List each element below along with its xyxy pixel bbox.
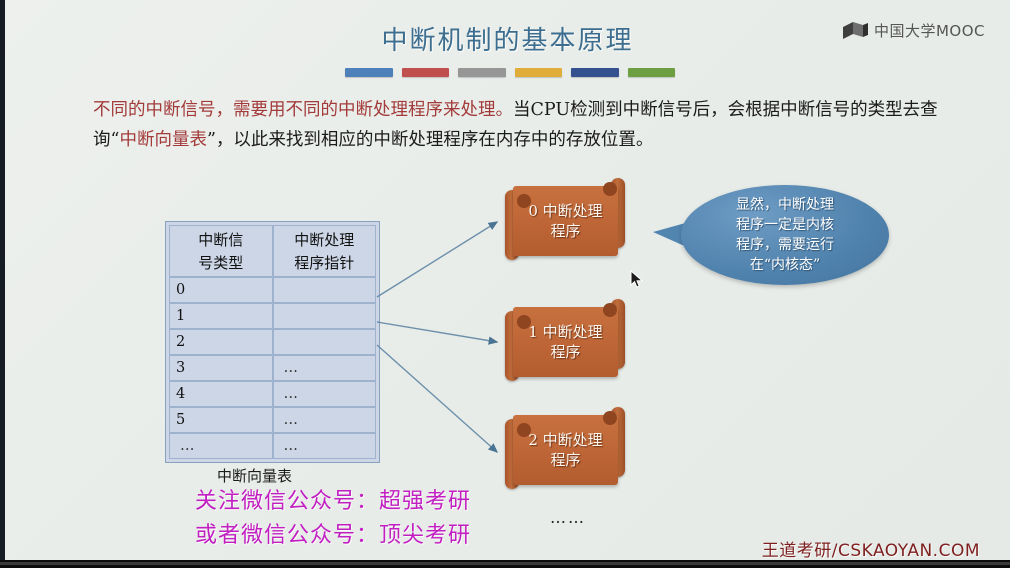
callout-bubble: 显然，中断处理 程序一定是内核 程序，需要运行 在“内核态” xyxy=(681,185,889,285)
handler-scroll-0: 0 中断处理 程序 xyxy=(499,180,631,262)
paragraph-red-term: 中断向量表 xyxy=(119,130,207,150)
slide-canvas: 中断机制的基本原理 中国大学MOOC 不同的中断信号，需要用不同的中断处理程序来… xyxy=(5,0,1010,560)
brand-logo: 中国大学MOOC xyxy=(843,20,985,41)
scroll-knob-right xyxy=(603,303,617,317)
table-row: 1 xyxy=(169,303,376,329)
watermark-brand: 王道考研/CSKAOYAN.COM xyxy=(762,536,980,561)
brand-logo-text: 中国大学MOOC xyxy=(874,20,985,41)
table-cell-type: 3 xyxy=(169,355,273,381)
table-row: 0 xyxy=(169,277,376,303)
table-row: … … xyxy=(169,433,376,459)
table-cell-type: 5 xyxy=(169,407,273,433)
table-cell-type: … xyxy=(169,433,273,459)
table-cell-type: 2 xyxy=(169,329,273,355)
paragraph-dark-3: ”，以此来找到相应的中断处理程序在内存中的存放位置。 xyxy=(207,130,653,150)
video-slide-frame: 中断机制的基本原理 中国大学MOOC 不同的中断信号，需要用不同的中断处理程序来… xyxy=(0,0,1010,568)
accent-bar-2 xyxy=(402,68,450,77)
watermark-line-1: 关注微信公众号：超强考研 xyxy=(195,483,471,515)
callout-text: 显然，中断处理 程序一定是内核 程序，需要运行 在“内核态” xyxy=(736,195,834,275)
accent-bar-4 xyxy=(515,68,563,77)
table-cell-type: 0 xyxy=(169,277,273,303)
interrupt-vector-table: 中断信 号类型 中断处理 程序指针 0 1 2 3 … 4 … xyxy=(165,221,380,463)
player-progress-track[interactable] xyxy=(0,562,1010,565)
handlers-more-ellipsis: …… xyxy=(550,508,586,527)
mouse-cursor-icon xyxy=(630,270,644,290)
paragraph-red-lead: 不同的中断信号，需要用不同的中断处理程序来处理。 xyxy=(93,100,513,120)
table-header-cell-type: 中断信 号类型 xyxy=(169,225,273,277)
accent-bar-6 xyxy=(628,68,676,77)
title-accent-bars xyxy=(345,68,675,77)
accent-bar-3 xyxy=(458,68,506,77)
handler-scroll-1: 1 中断处理 程序 xyxy=(499,301,631,383)
arrow-row1-to-handler1 xyxy=(377,322,497,342)
handler-label: 2 中断处理 程序 xyxy=(528,430,602,470)
table-cell-type: 1 xyxy=(169,303,273,329)
handler-label: 0 中断处理 程序 xyxy=(528,201,602,241)
table-cell-pointer xyxy=(273,329,377,355)
handler-label: 1 中断处理 程序 xyxy=(528,322,602,362)
paragraph-dark-1: 当CPU检测到中断信号后，会根据中断信号 xyxy=(513,100,850,120)
scroll-knob-right xyxy=(603,411,617,425)
mooc-book-icon xyxy=(843,21,869,41)
arrow-row0-to-handler0 xyxy=(377,222,497,297)
player-left-edge xyxy=(0,0,5,568)
table-cell-pointer xyxy=(273,303,377,329)
table-cell-pointer: … xyxy=(273,407,377,433)
accent-bar-1 xyxy=(345,68,393,77)
player-bottom-bar[interactable] xyxy=(0,560,1010,568)
table-row: 5 … xyxy=(169,407,376,433)
table-cell-type: 4 xyxy=(169,381,273,407)
accent-bar-5 xyxy=(571,68,619,77)
table-row: 4 … xyxy=(169,381,376,407)
table-header-cell-pointer: 中断处理 程序指针 xyxy=(273,225,377,277)
table-header-row: 中断信 号类型 中断处理 程序指针 xyxy=(169,225,376,277)
scroll-knob-right xyxy=(603,182,617,196)
table-row: 3 … xyxy=(169,355,376,381)
arrow-row2-to-handler2 xyxy=(377,345,497,452)
table-cell-pointer xyxy=(273,277,377,303)
table-cell-pointer: … xyxy=(273,381,377,407)
handler-scroll-2: 2 中断处理 程序 xyxy=(499,409,631,491)
watermark-line-2: 或者微信公众号：顶尖考研 xyxy=(195,517,471,549)
table-cell-pointer: … xyxy=(273,433,377,459)
table-row: 2 xyxy=(169,329,376,355)
table-cell-pointer: … xyxy=(273,355,377,381)
body-paragraph: 不同的中断信号，需要用不同的中断处理程序来处理。当CPU检测到中断信号后，会根据… xyxy=(93,95,953,155)
